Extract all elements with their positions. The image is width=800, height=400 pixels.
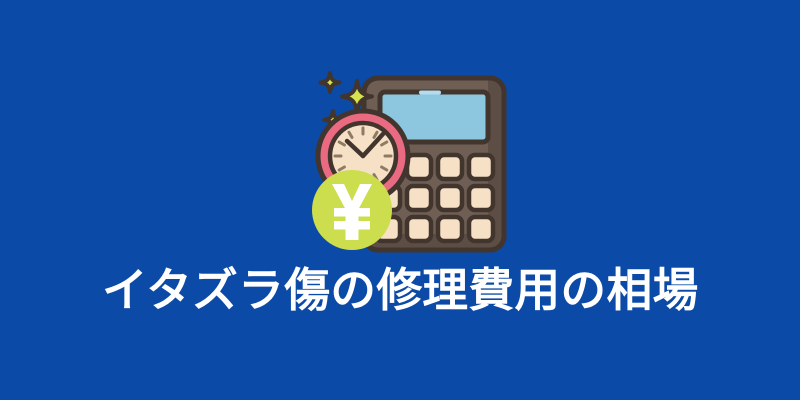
calculator-key[interactable] [469,186,493,210]
banner-root: イタズラ傷の修理費用の相場 [0,0,800,400]
calculator-key[interactable] [407,217,431,241]
sparkle-icon [321,73,340,92]
calculator-clock-yen-illustration [300,58,530,258]
calculator-display-highlight [419,91,441,95]
illustration-svg [300,58,530,258]
calculator-key[interactable] [438,186,462,210]
calculator-key[interactable] [469,217,493,241]
calculator-key[interactable] [438,217,462,241]
calculator-key[interactable] [438,155,462,179]
title-container: イタズラ傷の修理費用の相場 [0,258,800,322]
calculator-key[interactable] [469,155,493,179]
yen-coin [312,170,392,250]
page-title: イタズラ傷の修理費用の相場 [102,267,699,313]
calculator-key[interactable] [407,155,431,179]
calculator-key[interactable] [407,186,431,210]
